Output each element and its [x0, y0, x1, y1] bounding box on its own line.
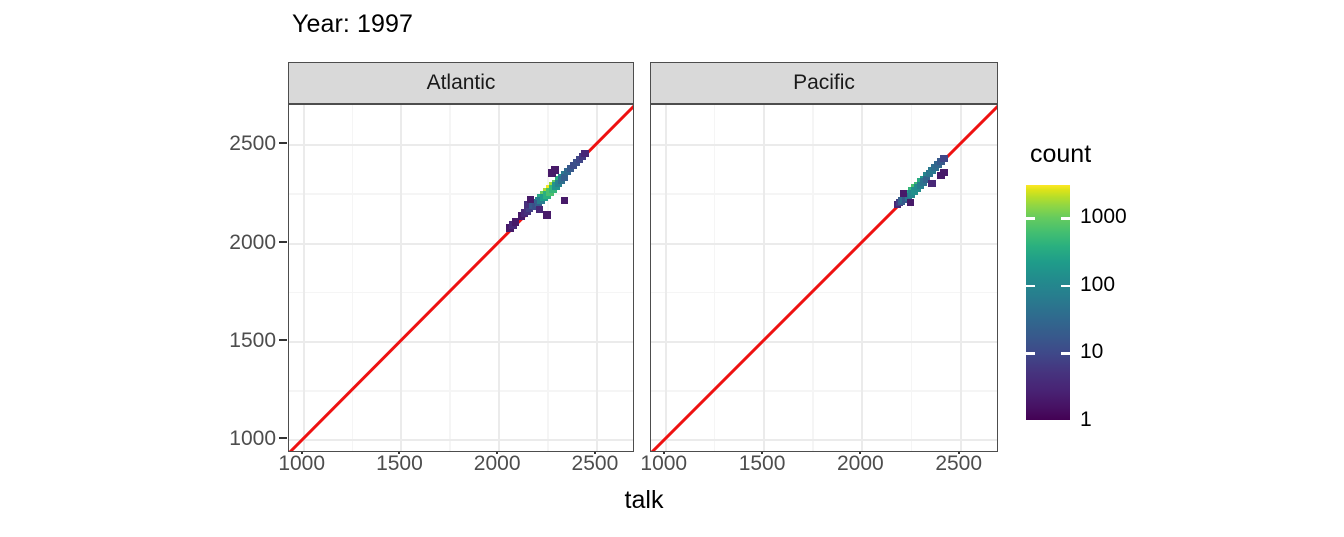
legend-tick-mark	[1061, 352, 1070, 355]
data-bin-tile	[928, 180, 935, 187]
legend-colorbar	[1026, 185, 1070, 420]
legend-title: count	[1030, 140, 1091, 169]
legend-tick-label: 1000	[1080, 205, 1127, 229]
x-axis-title: talk	[288, 486, 1000, 515]
data-bin-tile	[561, 197, 568, 204]
x-tick-label: 1500	[376, 452, 423, 476]
page-title: Year: 1997	[292, 10, 413, 39]
x-tick-label: 1500	[739, 452, 786, 476]
data-bin-tile	[543, 211, 550, 218]
legend-tick-mark	[1026, 217, 1035, 220]
facet-strip-label: Atlantic	[288, 62, 634, 104]
x-tick-label: 2000	[837, 452, 884, 476]
y-tick-label: 1000	[220, 427, 276, 451]
plot-area	[288, 104, 634, 452]
legend-tick-mark	[1061, 217, 1070, 220]
plot-area	[650, 104, 998, 452]
y-tick-mark	[279, 339, 287, 341]
x-tick-label: 2500	[935, 452, 982, 476]
x-tick-label: 2000	[474, 452, 521, 476]
x-tick-label: 1000	[278, 452, 325, 476]
data-bin-tile	[527, 196, 534, 203]
y-tick-label: 2500	[220, 132, 276, 156]
y-tick-mark	[279, 241, 287, 243]
data-bin-tile	[581, 150, 588, 157]
x-tick-label: 1000	[640, 452, 687, 476]
y-tick-mark	[279, 437, 287, 439]
y-tick-label: 2000	[220, 231, 276, 255]
legend-tick-mark	[1026, 285, 1035, 288]
legend-tick-mark	[1061, 285, 1070, 288]
data-bin-tile	[940, 169, 947, 176]
data-bin-tile	[551, 166, 558, 173]
data-bin-tile	[536, 206, 543, 213]
legend-tick-mark	[1061, 420, 1070, 423]
legend-tick-mark	[1026, 420, 1035, 423]
y-tick-label: 1500	[220, 329, 276, 353]
data-bin-tile	[900, 190, 907, 197]
legend-tick-label: 10	[1080, 340, 1103, 364]
facet-strip-label: Pacific	[650, 62, 998, 104]
data-bin-tile	[940, 155, 947, 162]
y-tick-mark	[279, 142, 287, 144]
legend-tick-mark	[1026, 352, 1035, 355]
legend-tick-label: 100	[1080, 273, 1115, 297]
data-bin-tile	[907, 199, 914, 206]
x-tick-label: 2500	[572, 452, 619, 476]
legend-tick-label: 1	[1080, 408, 1092, 432]
